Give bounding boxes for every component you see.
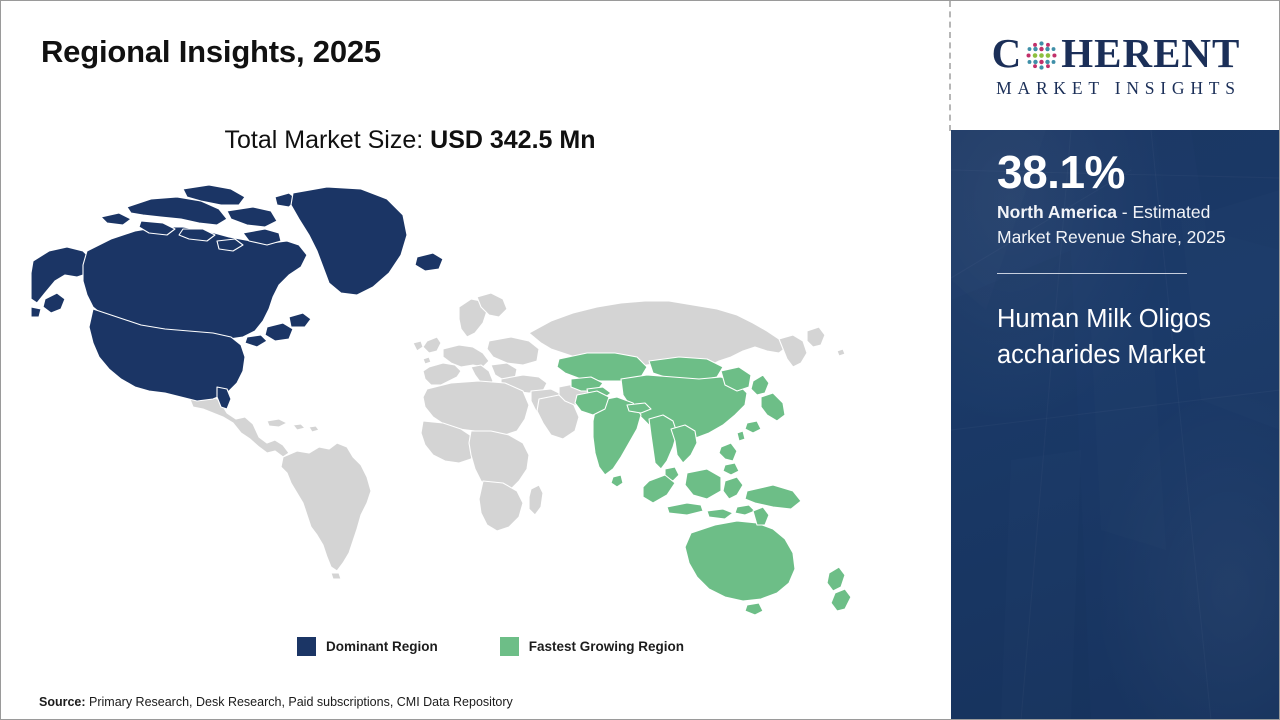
dotted-globe-icon [1023, 37, 1060, 74]
panel-divider-rule [997, 273, 1187, 274]
total-market-size: Total Market Size: USD 342.5 Mn [1, 126, 949, 155]
page-title: Regional Insights, 2025 [41, 34, 381, 70]
source-note: Source: Primary Research, Desk Research,… [39, 695, 513, 709]
world-map [31, 181, 861, 621]
market-name: Human Milk Oligosaccharides Market [997, 301, 1225, 373]
legend-swatch-dominant [297, 637, 316, 656]
map-legend: Dominant Region Fastest Growing Region [297, 637, 684, 656]
logo-subtitle: MARKET INSIGHTS [991, 78, 1241, 99]
total-market-size-value: USD 342.5 Mn [430, 126, 595, 154]
market-share-region: North America [997, 202, 1117, 222]
source-text: Primary Research, Desk Research, Paid su… [86, 695, 513, 709]
legend-label-fastest-growing: Fastest Growing Region [529, 639, 684, 654]
logo-letter-c: C [992, 33, 1023, 74]
world-map-container [31, 181, 861, 621]
legend-item-dominant: Dominant Region [297, 637, 438, 656]
market-share-caption: North America - Estimated Market Revenue… [997, 200, 1234, 250]
brand-logo: C [951, 1, 1280, 130]
total-market-size-label: Total Market Size: [225, 126, 431, 154]
legend-swatch-fastest-growing [500, 637, 519, 656]
source-label: Source: [39, 695, 86, 709]
market-share-value: 38.1% [997, 148, 1234, 196]
panel-content: 38.1% North America - Estimated Market R… [951, 148, 1280, 373]
left-content-panel: Regional Insights, 2025 Total Market Siz… [1, 1, 949, 719]
regional-highlight-panel: 38.1% North America - Estimated Market R… [951, 130, 1280, 720]
map-region-asia-pacific [557, 353, 851, 615]
regional-insights-slide: Regional Insights, 2025 Total Market Siz… [0, 0, 1280, 720]
logo-letters-herent: HERENT [1061, 33, 1240, 74]
logo-wordmark: C [992, 33, 1241, 74]
legend-item-fastest-growing: Fastest Growing Region [500, 637, 684, 656]
legend-label-dominant: Dominant Region [326, 639, 438, 654]
map-region-north-america [31, 185, 443, 409]
